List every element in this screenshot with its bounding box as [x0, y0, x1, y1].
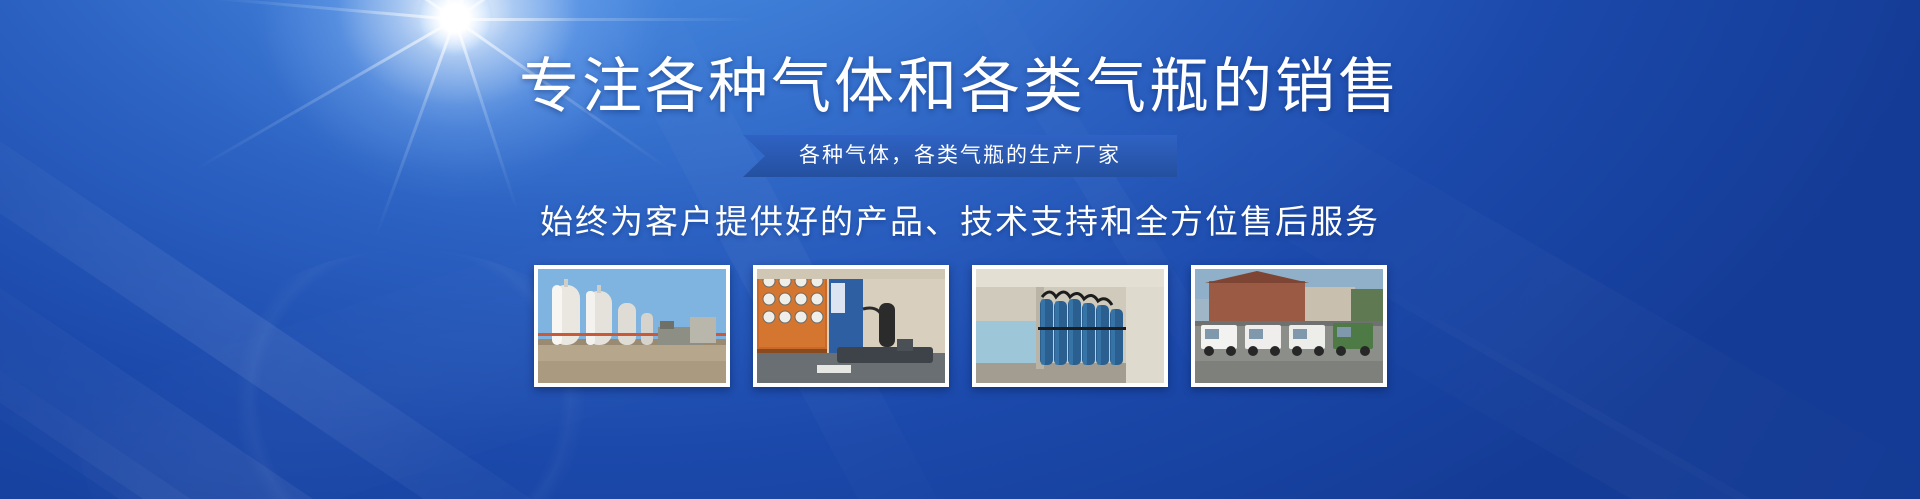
banner-subline: 始终为客户提供好的产品、技术支持和全方位售后服务	[0, 195, 1920, 243]
photo-delivery-truck-fleet[interactable]	[1191, 265, 1387, 387]
photo-image	[1195, 269, 1383, 383]
photo-thumbnail-strip	[0, 265, 1920, 387]
hero-banner: 专注各种气体和各类气瓶的销售 各种气体，各类气瓶的生产厂家 始终为客户提供好的产…	[0, 0, 1920, 499]
photo-gauge-control-panel[interactable]	[753, 265, 949, 387]
photo-image	[538, 269, 726, 383]
banner-ribbon-tagline: 各种气体，各类气瓶的生产厂家	[743, 135, 1177, 177]
ribbon-container: 各种气体，各类气瓶的生产厂家	[0, 135, 1920, 177]
banner-content: 专注各种气体和各类气瓶的销售 各种气体，各类气瓶的生产厂家 始终为客户提供好的产…	[0, 0, 1920, 387]
photo-cryogenic-storage-tanks[interactable]	[534, 265, 730, 387]
banner-headline: 专注各种气体和各类气瓶的销售	[0, 0, 1920, 121]
photo-image	[757, 269, 945, 383]
photo-image	[976, 269, 1164, 383]
photo-blue-gas-cylinders[interactable]	[972, 265, 1168, 387]
